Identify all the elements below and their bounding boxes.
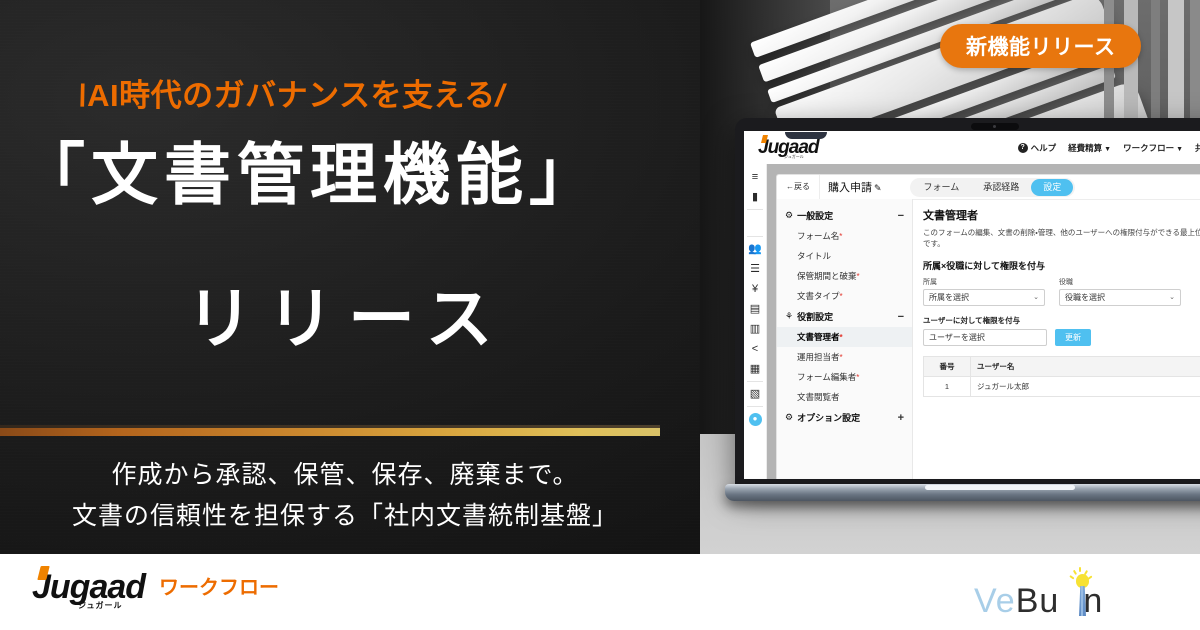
roles-icon: ⚘ <box>785 311 793 322</box>
required-marker: * <box>840 353 843 362</box>
sidebar-divider <box>747 236 763 237</box>
settings-group-roles[interactable]: ⚘ 役割設定 − <box>777 306 912 327</box>
settings-item-doc-manager-label: 文書管理者 <box>797 332 840 342</box>
nav-help[interactable]: ? ヘルプ <box>1018 142 1057 154</box>
department-select[interactable]: 所属を選択 ⌄ <box>923 289 1045 306</box>
settings-group-options[interactable]: ⚙ オプション設定 + <box>777 407 912 428</box>
chevron-down-icon: ▼ <box>1176 146 1183 153</box>
sidebar-divider <box>747 381 763 382</box>
help-icon: ? <box>1018 143 1028 153</box>
required-marker: * <box>857 272 860 281</box>
settings-item-form-name-label: フォーム名 <box>797 231 839 241</box>
user-select-value: ユーザーを選択 <box>929 332 985 343</box>
partner-logo-bu: Bu <box>1016 582 1060 620</box>
footer-product-name: ワークフロー <box>159 572 279 604</box>
laptop-screen: Jugaad ジュガール ? ヘルプ 経費精算▼ ワークフロー▼ <box>744 131 1200 479</box>
table-header-row: 番号 ユーザー名 <box>924 356 1200 376</box>
column-header-number: 番号 <box>924 356 971 376</box>
settings-item-doc-viewer[interactable]: 文書閲覧者 <box>777 387 912 407</box>
role-fields: 所属 所属を選択 ⌄ 役職 <box>923 277 1200 306</box>
tab-form[interactable]: フォーム <box>912 179 972 196</box>
update-button[interactable]: 更新 <box>1055 329 1091 346</box>
settings-tree: ⚙ 一般設定 − フォーム名* タイトル <box>777 199 913 479</box>
people-icon[interactable]: 👥 <box>744 239 766 259</box>
detail-pane: 文書管理者 このフォームの編集、文書の削除・管理、他のユーザーへの権限付与ができ… <box>913 199 1200 479</box>
app-logo[interactable]: Jugaad ジュガール <box>758 137 819 159</box>
detail-title: 文書管理者 <box>923 207 1200 223</box>
sidebar-divider <box>747 209 763 210</box>
laptop-hinge-notch <box>785 132 827 139</box>
user-select[interactable]: ユーザーを選択 <box>923 329 1047 346</box>
tab-approval-route[interactable]: 承認経路 <box>971 179 1031 196</box>
indent-list-icon[interactable]: ≡ <box>744 167 766 187</box>
settings-item-form-editor[interactable]: フォーム編集者* <box>777 367 912 387</box>
settings-item-title-label: タイトル <box>797 251 831 261</box>
column-header-username: ユーザー名 <box>971 356 1200 376</box>
page-title: 「文書管理機能」 <box>18 140 708 212</box>
settings-item-doc-type[interactable]: 文書タイプ* <box>777 286 912 306</box>
content-card: ←戻る 購入申請✎ フォーム 承認経路 設定 <box>776 174 1200 479</box>
breadcrumb: ←戻る 購入申請✎ フォーム 承認経路 設定 <box>777 175 1200 200</box>
settings-item-doc-viewer-label: 文書閲覧者 <box>797 392 840 402</box>
settings-group-general-label: 一般設定 <box>797 209 833 222</box>
badge-label: 新機能リリース <box>966 31 1115 61</box>
form-title: 購入申請✎ <box>828 179 882 195</box>
form-title-text: 購入申請 <box>828 182 872 194</box>
settings-group-general[interactable]: ⚙ 一般設定 − <box>777 205 912 226</box>
laptop-base <box>725 484 1200 501</box>
collapse-toggle-icon[interactable]: − <box>898 311 904 323</box>
section-role-grant: 所属×役職に対して権限を付与 <box>923 259 1200 272</box>
field-department: 所属 所属を選択 ⌄ <box>923 277 1045 306</box>
jugaad-app: Jugaad ジュガール ? ヘルプ 経費精算▼ ワークフロー▼ <box>744 131 1200 479</box>
yen-icon[interactable]: ¥ <box>744 279 766 299</box>
document-icon[interactable]: ▤ <box>744 299 766 319</box>
field-department-label: 所属 <box>923 277 1045 287</box>
settings-item-doc-manager[interactable]: 文書管理者* <box>777 327 912 347</box>
department-select-value: 所属を選択 <box>929 292 969 303</box>
field-position-label: 役職 <box>1059 277 1181 287</box>
required-marker: * <box>840 292 843 301</box>
nav-item-keihi[interactable]: 経費精算▼ <box>1068 142 1111 154</box>
clipboard-icon[interactable]: ▥ <box>744 319 766 339</box>
chevron-down-icon: ⌄ <box>1169 293 1175 301</box>
table-grid-icon[interactable]: ▦ <box>744 359 766 379</box>
back-button[interactable]: ←戻る <box>777 175 820 199</box>
footer-bar: Jugaad ジュガール ワークフロー VeBun <box>0 554 1200 630</box>
chevron-down-icon: ⌄ <box>1033 293 1039 301</box>
pencil-icon[interactable]: ✎ <box>874 183 882 193</box>
kicker-text: AI時代のガバナンスを支える <box>87 78 495 113</box>
cell-username: ジュガール太郎 <box>971 376 1200 396</box>
nav-item-keihi-label: 経費精算 <box>1068 143 1102 153</box>
chevron-down-icon: ▼ <box>1104 146 1111 153</box>
tab-bar: フォーム 承認経路 設定 <box>910 178 1076 197</box>
nav-item-common-settings-label: 共通設定 <box>1195 143 1200 153</box>
footer-brand-logo: Jugaad ジュガール <box>32 570 145 604</box>
nav-item-common-settings[interactable]: 共通設定▼ <box>1195 142 1200 154</box>
nav-item-workflow[interactable]: ワークフロー▼ <box>1123 142 1183 154</box>
navbar-links: ? ヘルプ 経費精算▼ ワークフロー▼ 共通設定▼ <box>1018 142 1200 154</box>
avatar-icon[interactable]: ● <box>744 409 766 429</box>
granted-users-table: 番号 ユーザー名 1 ジュガール太郎 <box>923 356 1200 397</box>
subtitle-line-1: 作成から承認、保管、保存、廃棄まで。 <box>0 455 690 496</box>
laptop-mockup: Jugaad ジュガール ? ヘルプ 経費精算▼ ワークフロー▼ <box>735 118 1200 508</box>
gear-icon: ⚙ <box>785 210 793 221</box>
gradient-divider <box>0 428 660 436</box>
section-user-grant: ユーザーに対して権限を付与 <box>923 315 1200 326</box>
expand-toggle-icon[interactable]: + <box>898 412 904 424</box>
settings-group-roles-label: 役割設定 <box>797 310 833 323</box>
partner-logo-ve: Ve <box>974 582 1016 620</box>
nav-item-workflow-label: ワークフロー <box>1123 143 1174 153</box>
required-marker: * <box>856 373 859 382</box>
required-marker: * <box>840 333 843 342</box>
partner-logo: VeBun <box>974 568 1144 620</box>
settings-item-form-name[interactable]: フォーム名* <box>777 226 912 246</box>
settings-item-operator-label: 運用担当者 <box>797 352 840 362</box>
user-grant-row: ユーザーを選択 更新 <box>923 329 1200 346</box>
settings-item-operator[interactable]: 運用担当者* <box>777 347 912 367</box>
page-title-second-line: リリース <box>186 284 706 356</box>
nav-help-label: ヘルプ <box>1031 142 1057 154</box>
collapse-toggle-icon[interactable]: − <box>898 210 904 222</box>
table-row[interactable]: 1 ジュガール太郎 <box>924 376 1200 396</box>
settings-item-retention[interactable]: 保管期間と破棄* <box>777 266 912 286</box>
bullet-list-icon[interactable]: ☰ <box>744 259 766 279</box>
required-marker: * <box>839 232 842 241</box>
position-select[interactable]: 役職を選択 ⌄ <box>1059 289 1181 306</box>
icon-sidebar: ≡ ▮ 👥 ☰ ¥ ▤ ▥ < ▦ ▧ <box>744 164 767 479</box>
sidebar-divider <box>747 406 763 407</box>
app-body: ≡ ▮ 👥 ☰ ¥ ▤ ▥ < ▦ ▧ <box>744 164 1200 479</box>
app-logo-reading: ジュガール <box>784 154 804 160</box>
settings-item-retention-label: 保管期間と破棄 <box>797 271 857 281</box>
detail-description: このフォームの編集、文書の削除・管理、他のユーザーへの権限付与ができる最上位の権… <box>923 227 1200 250</box>
new-feature-badge: 新機能リリース <box>940 24 1141 68</box>
settings-panels: ⚙ 一般設定 − フォーム名* タイトル <box>777 199 1200 479</box>
settings-item-form-editor-label: フォーム編集者 <box>797 372 856 382</box>
gear-icon: ⚙ <box>785 412 793 423</box>
book-icon[interactable]: ▮ <box>744 187 766 207</box>
webcam-icon <box>971 123 1019 130</box>
settings-group-options-label: オプション設定 <box>797 411 860 424</box>
cell-number: 1 <box>924 376 971 396</box>
hero-kicker: \AI時代のガバナンスを支える/ <box>78 70 678 115</box>
hero-subtitle: 作成から承認、保管、保存、廃棄まで。 文書の信頼性を担保する「社内文書統制基盤」 <box>0 455 690 538</box>
tab-settings[interactable]: 設定 <box>1031 179 1073 196</box>
footer-brand: Jugaad ジュガール ワークフロー <box>32 570 279 604</box>
lightbulb-icon <box>1070 568 1094 618</box>
footer-brand-reading: ジュガール <box>78 602 122 610</box>
open-book-icon[interactable]: ▧ <box>744 384 766 404</box>
settings-item-title[interactable]: タイトル <box>777 246 912 266</box>
position-select-value: 役職を選択 <box>1065 292 1105 303</box>
share-icon[interactable]: < <box>744 339 766 359</box>
settings-item-doc-type-label: 文書タイプ <box>797 291 840 301</box>
subtitle-line-2: 文書の信頼性を担保する「社内文書統制基盤」 <box>0 496 690 537</box>
field-position: 役職 役職を選択 ⌄ <box>1059 277 1181 306</box>
poster-canvas: 新機能リリース \AI時代のガバナンスを支える/ 「文書管理機能」 リリース 作… <box>0 0 1200 630</box>
